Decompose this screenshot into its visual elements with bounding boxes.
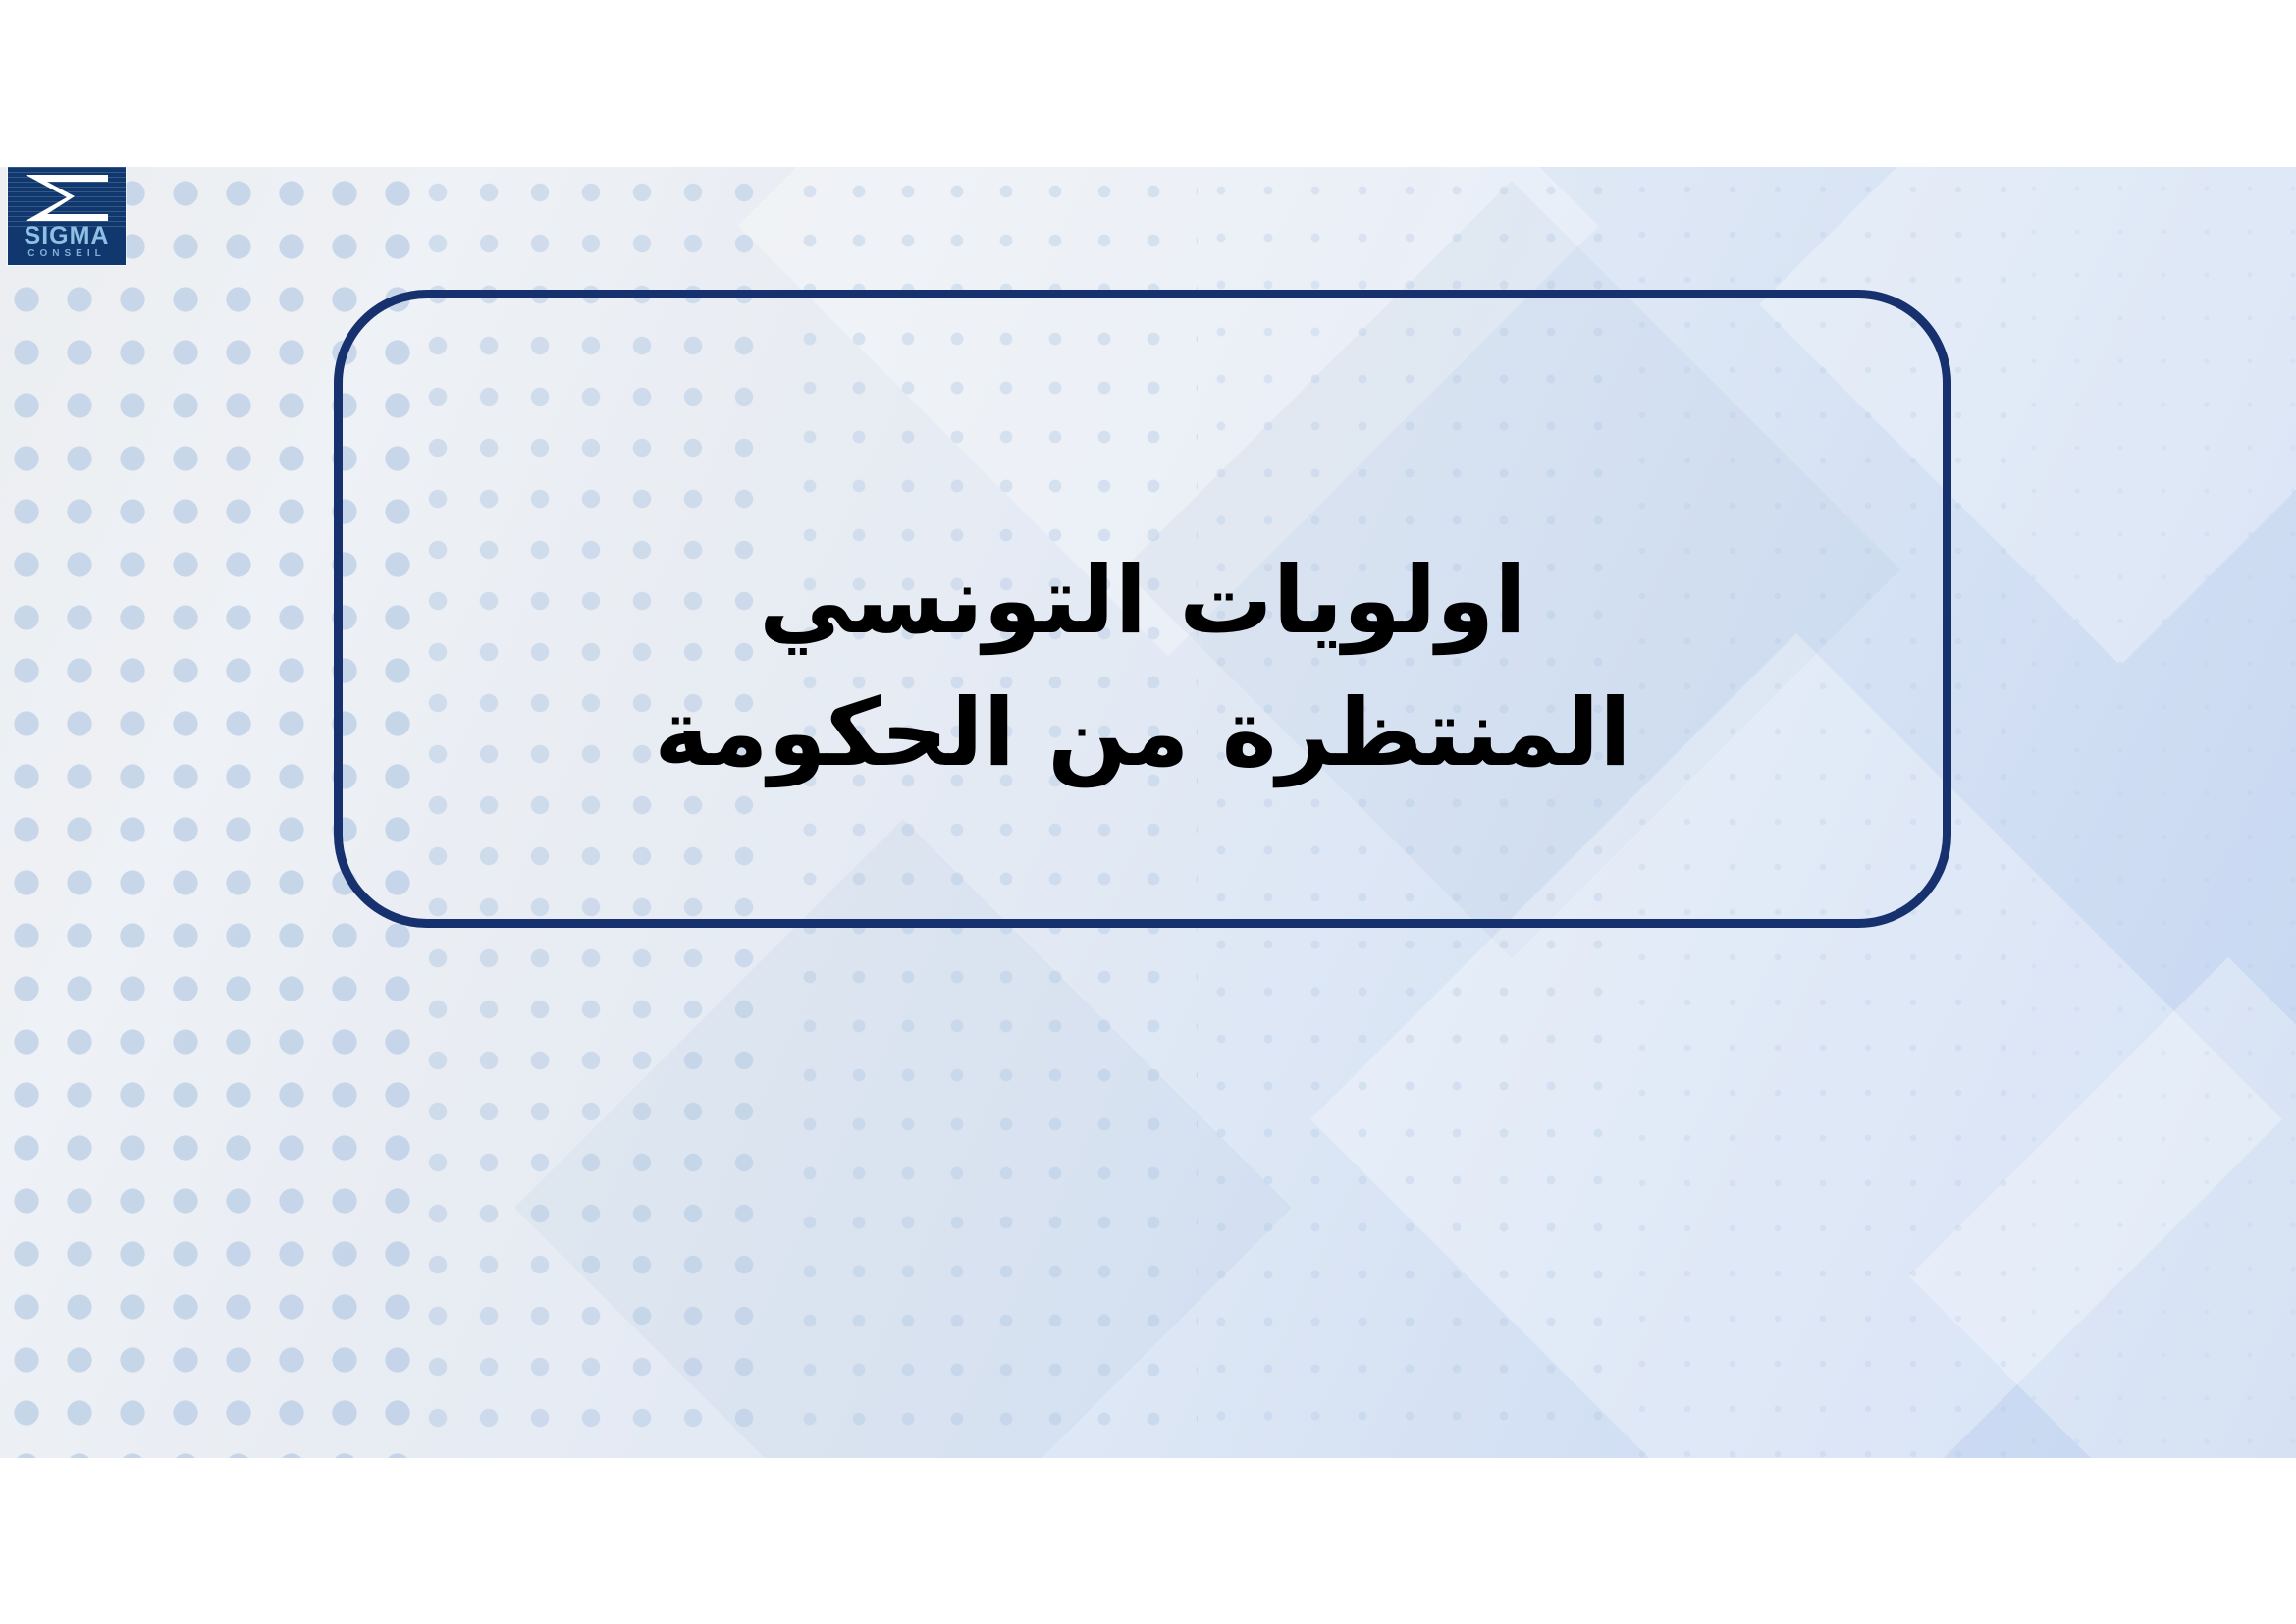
title-line-2: المنتظرة من الحكومة xyxy=(455,668,1830,800)
logo-tagline: CONSEIL xyxy=(8,249,126,259)
title-frame: اولويات التونسي المنتظرة من الحكومة xyxy=(334,290,1951,928)
sigma-conseil-logo: SIGMA CONSEIL xyxy=(8,167,126,265)
logo-name: SIGMA xyxy=(8,224,126,248)
page-title: اولويات التونسي المنتظرة من الحكومة xyxy=(455,535,1830,800)
title-line-1: اولويات التونسي xyxy=(455,535,1830,668)
diamond-shape-6 xyxy=(1909,957,2296,1458)
slide-canvas: SIGMA CONSEIL اولويات التونسي المنتظرة م… xyxy=(0,167,2296,1458)
sigma-symbol-icon xyxy=(26,175,108,224)
